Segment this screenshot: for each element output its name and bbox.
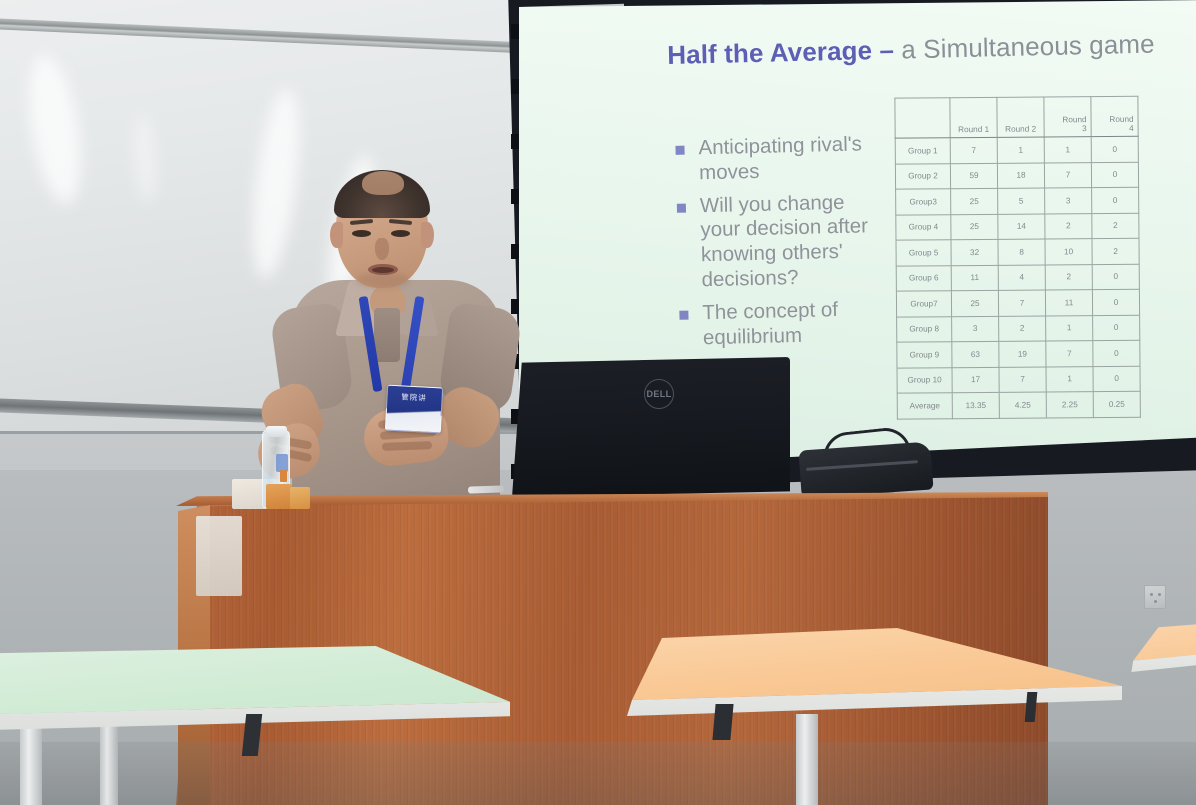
desk-leg [100, 718, 118, 805]
table-header-row: Round 1Round 2Round 3Round 4 [895, 96, 1138, 138]
table-cell: 0 [1091, 136, 1138, 162]
table-column-header: Round 4 [1091, 96, 1138, 136]
podium-side-panel [196, 516, 242, 596]
table-row-label: Group 1 [895, 138, 950, 164]
bullet-text: Will you change your decision after know… [700, 190, 869, 291]
presenter-ear-left [330, 222, 343, 248]
table-cell: 11 [1045, 290, 1092, 316]
table-cell: 2 [1092, 238, 1139, 264]
water-bottle-cap [266, 426, 287, 437]
table-cell: 2 [1045, 264, 1092, 290]
table-row-label: Average [897, 393, 952, 419]
table-cell: 0 [1093, 315, 1140, 341]
table-row-label: Group 2 [895, 163, 950, 189]
outlet-socket-hole [1158, 593, 1161, 596]
table-cell: 19 [999, 341, 1046, 367]
table-cell: 7 [1044, 162, 1091, 188]
bullet-text: The concept of equilibrium [702, 298, 838, 349]
table-cell: 2.25 [1046, 392, 1093, 418]
table-cell: 3 [1045, 188, 1092, 214]
list-item: Anticipating rival's moves [673, 132, 886, 187]
slide-title-accent: Half the Average [667, 35, 873, 70]
presenter-ear-right [421, 222, 434, 248]
table-column-header: Round 2 [997, 97, 1044, 137]
table-cell: 0 [1092, 289, 1139, 315]
table-row: Group325530 [896, 187, 1139, 214]
desk-leg [20, 722, 42, 805]
table-cell: 0 [1091, 162, 1138, 188]
table-cell: 25 [951, 290, 998, 316]
whiteboard-top-rail [0, 18, 554, 55]
table-cell: 25 [951, 214, 998, 240]
table-column-header: Round 1 [950, 97, 997, 137]
table-column-header-label: Round 3 [1045, 115, 1091, 133]
table-cell: 0 [1092, 187, 1139, 213]
table-cell: 3 [952, 316, 999, 342]
pen [468, 485, 504, 493]
table-cell: 7 [950, 137, 997, 163]
table-cell: 11 [951, 265, 998, 291]
table-cell: 7 [999, 366, 1046, 392]
table-row-label: Group7 [896, 291, 951, 317]
list-item: The concept of equilibrium [677, 297, 890, 352]
student-desk-green [0, 646, 510, 736]
wall-outlet[interactable] [1144, 585, 1166, 609]
table-row: Group 611420 [896, 264, 1139, 291]
table-cell: 1 [1044, 137, 1091, 163]
table-column-header-label: Round 1 [951, 125, 997, 134]
table-row-label: Group3 [896, 189, 951, 215]
table-body: Group 17110Group 2591870Group325530Group… [895, 136, 1140, 418]
presenter-eye-left [352, 230, 371, 237]
table-cell: 0 [1093, 366, 1140, 392]
bullet-square-icon [677, 203, 686, 212]
slide-title-rest: a Simultaneous game [901, 29, 1155, 65]
list-item: Will you change your decision after know… [675, 189, 889, 293]
presenter: 管院讲 [258, 168, 558, 518]
snack-package [290, 487, 310, 509]
table-row: Group 9631970 [897, 340, 1140, 367]
bullet-square-icon [675, 146, 684, 155]
table-cell: 32 [951, 239, 998, 265]
table-cell: 4.25 [999, 392, 1046, 418]
desk-surface [1126, 616, 1196, 686]
table-cell: 1 [997, 137, 1044, 163]
desk-bracket [1025, 692, 1038, 722]
table-cell: 17 [952, 367, 999, 393]
table-row: Group 5328102 [896, 238, 1139, 265]
table-cell: 10 [1045, 239, 1092, 265]
table-row: Group 4251422 [896, 213, 1139, 240]
table-row: Group 17110 [895, 136, 1138, 163]
table-cell: 25 [951, 188, 998, 214]
dell-logo-icon: DELL [644, 379, 674, 409]
table-column-header-label: Round 4 [1092, 115, 1138, 133]
slide-results-table-wrap: Round 1Round 2Round 3Round 4 Group 17110… [894, 96, 1141, 419]
table-cell: 7 [1046, 341, 1093, 367]
table-cell: 1 [1046, 366, 1093, 392]
outlet-socket-hole [1150, 593, 1153, 596]
table-column-header-label: Round 2 [998, 124, 1044, 133]
bullet-square-icon [679, 310, 688, 319]
whiteboard-glare [21, 51, 90, 206]
water-bottle-label-orange [280, 470, 287, 482]
student-desk-orange-far [1126, 616, 1196, 686]
table-row-label: Group 10 [897, 367, 952, 393]
table-row: Group7257110 [896, 289, 1139, 316]
floor-shadow [0, 742, 1196, 805]
table-row-label: Group 4 [896, 214, 951, 240]
presenter-eye-right [391, 230, 410, 237]
table-row-label: Group 6 [896, 265, 951, 291]
presenter-mouth-inner [372, 267, 394, 273]
slide-title: Half the Average – a Simultaneous game [667, 29, 1168, 70]
table-row: Average13.354.252.250.25 [897, 391, 1140, 418]
table-row: Group 2591870 [895, 162, 1138, 189]
table-row-label: Group 8 [897, 316, 952, 342]
bullet-text: Anticipating rival's moves [698, 132, 862, 184]
table-cell: 59 [950, 163, 997, 189]
table-row: Group 83210 [897, 315, 1140, 342]
slide-results-table: Round 1Round 2Round 3Round 4 Group 17110… [894, 96, 1141, 419]
student-desk-orange [622, 628, 1122, 728]
table-cell: 18 [997, 162, 1044, 188]
lecture-hall-scene: Half the Average – a Simultaneous game A… [0, 0, 1196, 805]
presenter-nose [375, 238, 389, 260]
table-cell: 8 [998, 239, 1045, 265]
table-cell: 7 [998, 290, 1045, 316]
table-cell: 2 [999, 315, 1046, 341]
table-cell: 2 [1092, 213, 1139, 239]
table-column-header: Round 3 [1044, 97, 1091, 137]
presenter-shirt-placket [374, 308, 400, 362]
dell-logo-text: DELL [646, 389, 671, 399]
desk-bracket [712, 704, 733, 740]
table-row: Group 1017710 [897, 366, 1140, 393]
table-cell: 14 [998, 213, 1045, 239]
table-cell: 2 [1045, 213, 1092, 239]
table-corner-cell [895, 98, 950, 138]
table-cell: 0.25 [1093, 391, 1140, 417]
table-cell: 1 [1046, 315, 1093, 341]
presenter-forehead [362, 171, 404, 195]
outlet-socket-hole [1154, 600, 1157, 603]
whiteboard-glare [131, 113, 159, 204]
dell-monitor [512, 357, 790, 497]
table-cell: 0 [1092, 264, 1139, 290]
table-cell: 0 [1093, 340, 1140, 366]
table-cell: 4 [998, 264, 1045, 290]
table-row-label: Group 9 [897, 342, 952, 368]
table-cell: 13.35 [952, 392, 999, 418]
desk-leg [796, 714, 818, 805]
snack-package [266, 484, 292, 509]
slide-bullet-list: Anticipating rival's moves Will you chan… [673, 132, 890, 359]
table-cell: 5 [998, 188, 1045, 214]
table-head: Round 1Round 2Round 3Round 4 [895, 96, 1138, 138]
slide-title-dash: – [872, 34, 902, 65]
table-row-label: Group 5 [896, 240, 951, 266]
table-cell: 63 [952, 341, 999, 367]
